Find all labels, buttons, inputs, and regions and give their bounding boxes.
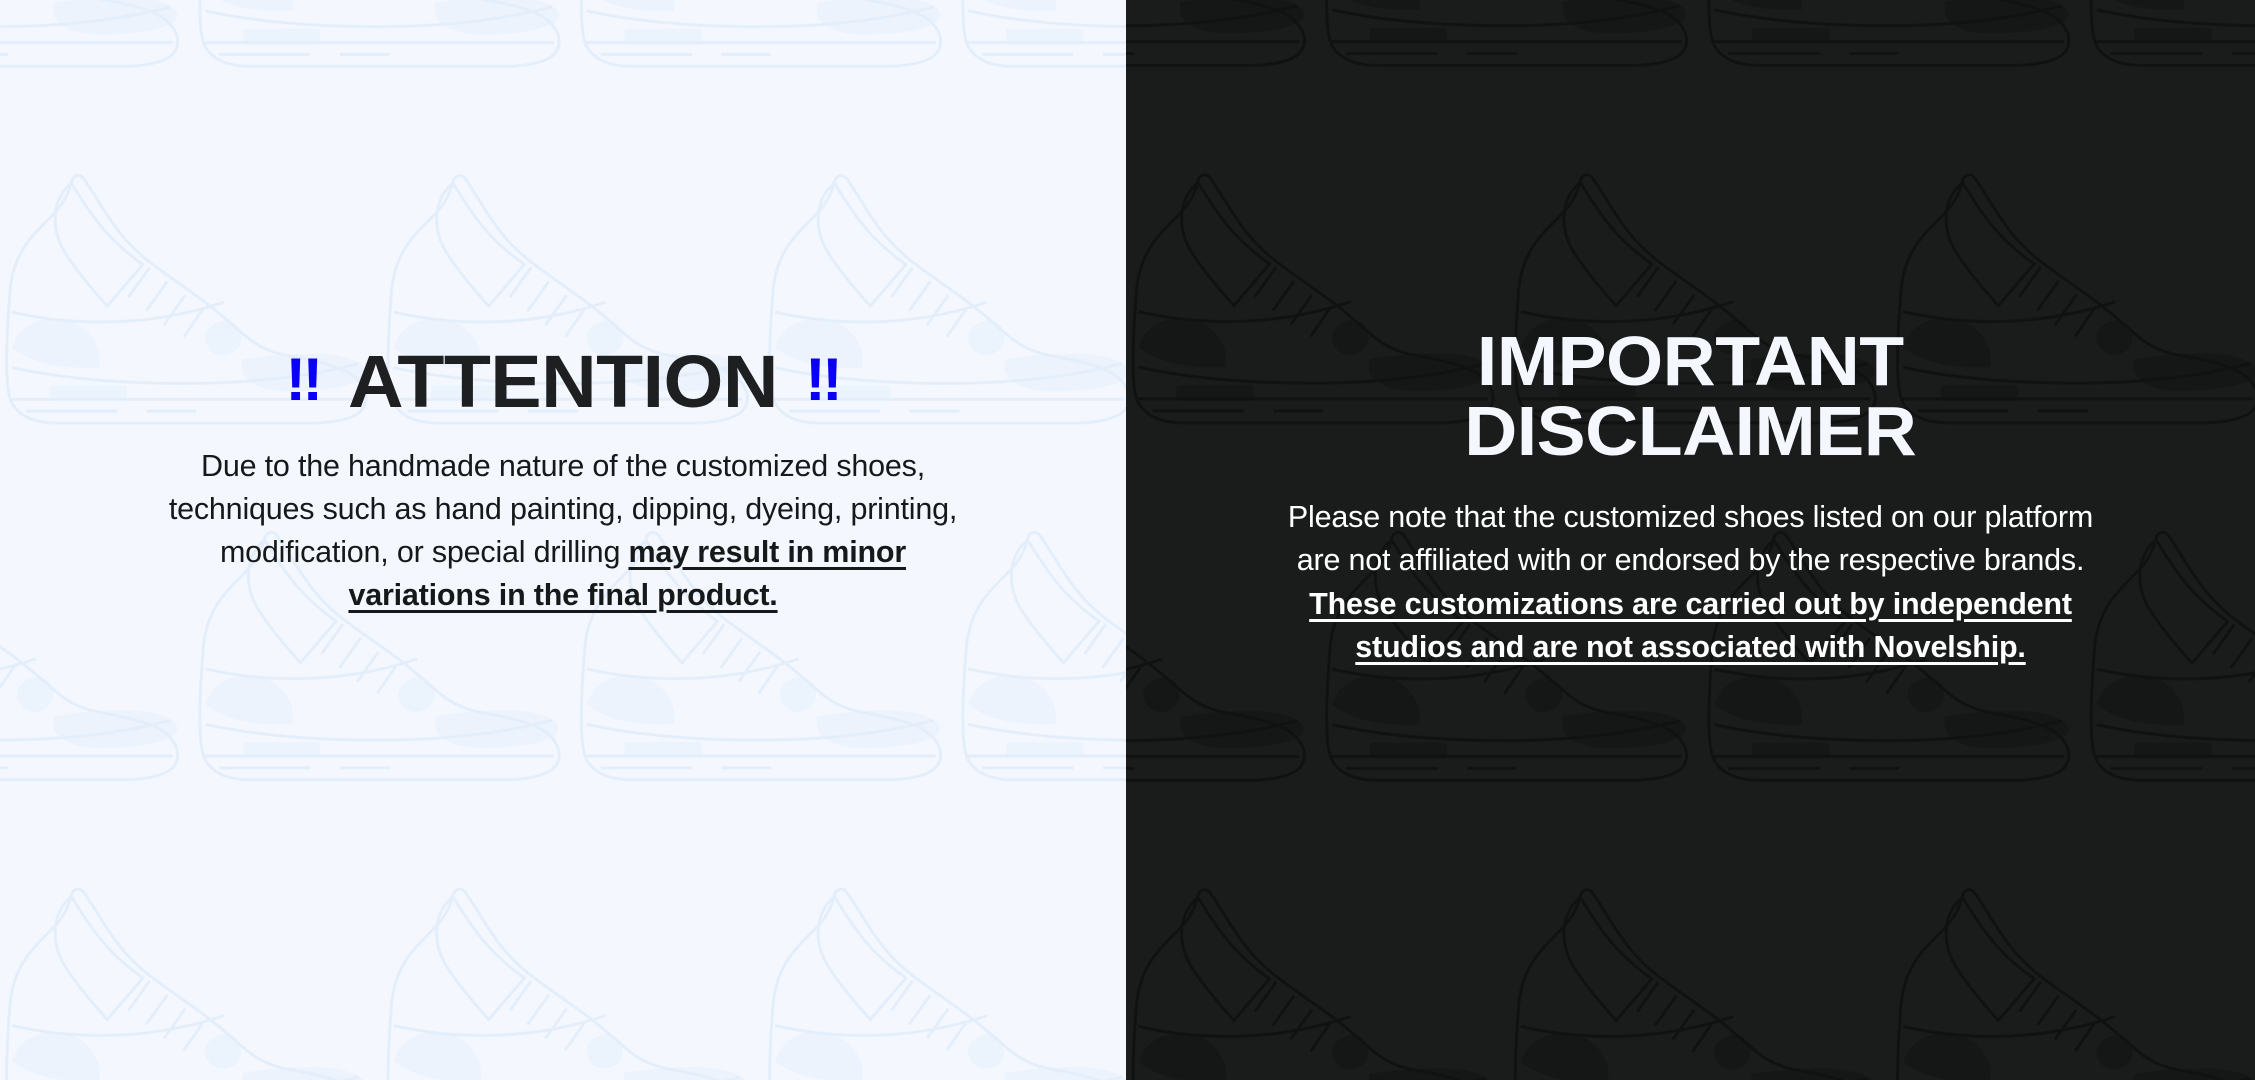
disclaimer-banner: ‼ ATTENTION ‼ Due to the handmade nature… [0, 0, 2255, 1080]
attention-body: Due to the handmade nature of the custom… [163, 445, 963, 618]
disclaimer-heading: IMPORTANT DISCLAIMER [1464, 326, 1916, 466]
disclaimer-body-normal: Please note that the customized shoes li… [1288, 500, 2093, 577]
attention-content: ‼ ATTENTION ‼ Due to the handmade nature… [0, 0, 1126, 618]
attention-heading: ‼ ATTENTION ‼ [285, 346, 840, 419]
disclaimer-body-emphasis: These customizations are carried out by … [1309, 587, 2072, 664]
attention-panel: ‼ ATTENTION ‼ Due to the handmade nature… [0, 0, 1126, 1080]
disclaimer-panel: IMPORTANT DISCLAIMER Please note that th… [1126, 0, 2255, 1080]
double-exclamation-icon-left: ‼ [285, 350, 321, 410]
disclaimer-body: Please note that the customized shoes li… [1286, 496, 2096, 669]
disclaimer-heading-line-2: DISCLAIMER [1464, 396, 1916, 466]
disclaimer-heading-line-1: IMPORTANT [1464, 326, 1916, 396]
disclaimer-content: IMPORTANT DISCLAIMER Please note that th… [1126, 0, 2255, 669]
double-exclamation-icon-right: ‼ [805, 350, 841, 410]
attention-heading-text: ATTENTION [348, 346, 778, 419]
